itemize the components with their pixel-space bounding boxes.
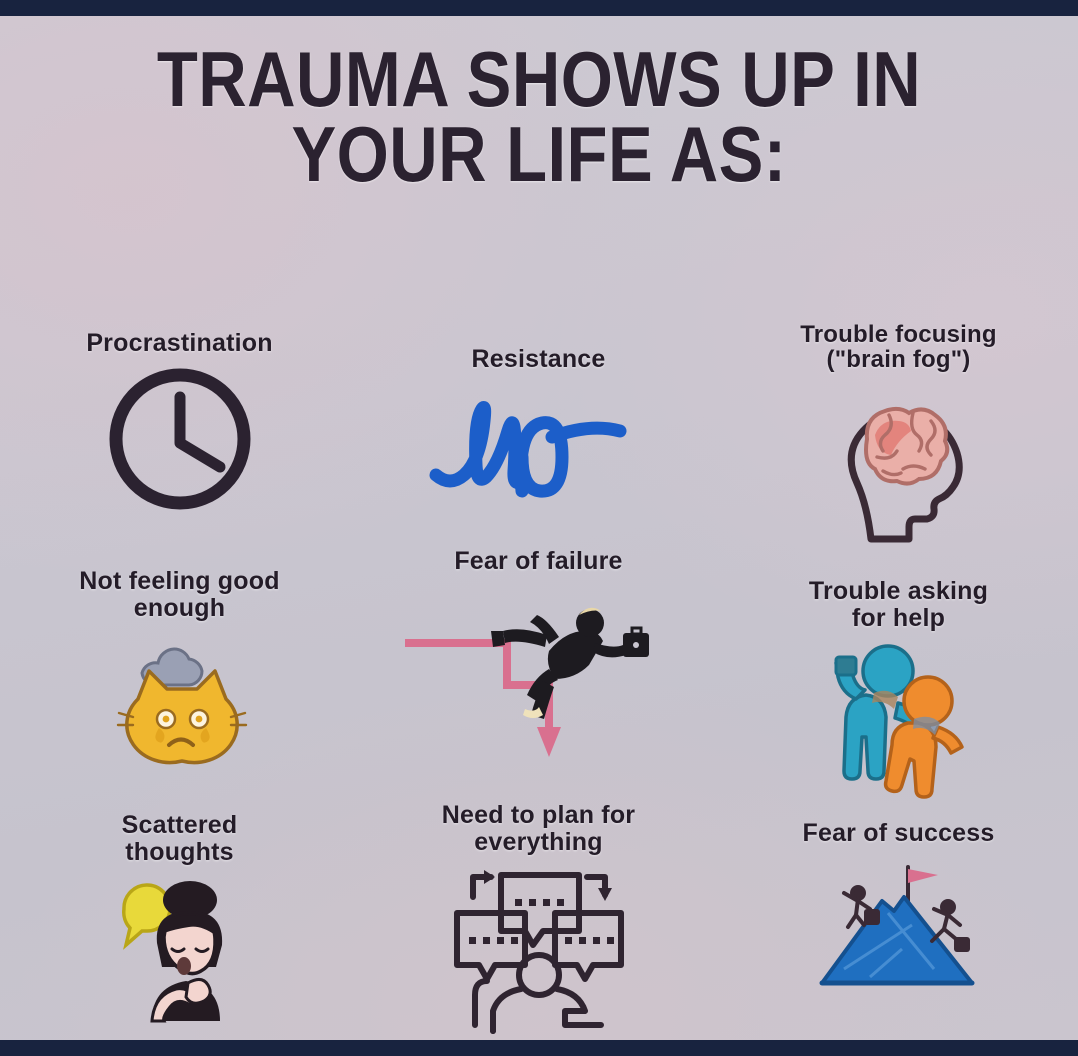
item-label: Trouble asking for help: [719, 578, 1078, 631]
mountain-climbers-flag-icon: [719, 853, 1078, 1003]
item-not-feeling-good-enough: Not feeling good enough: [0, 568, 359, 777]
sad-cat-rain-cloud-icon: [0, 627, 359, 777]
item-label: Not feeling good enough: [0, 568, 359, 621]
column-middle: Resistance Fear of failure: [359, 330, 718, 1030]
item-label: Fear of success: [719, 820, 1078, 847]
item-procrastination: Procrastination: [0, 330, 359, 515]
title-line-2: YOUR LIFE AS:: [75, 117, 1002, 192]
column-right: Trouble focusing ("brain fog"): [719, 330, 1078, 1030]
two-people-helping-icon: [719, 637, 1078, 797]
item-label: Procrastination: [0, 330, 359, 357]
item-resistance: Resistance: [359, 346, 718, 499]
page-title: TRAUMA SHOWS UP IN YOUR LIFE AS:: [0, 42, 1078, 192]
item-label: Trouble focusing ("brain fog"): [719, 322, 1078, 373]
person-thinking-lightbulb-icon: [0, 871, 359, 1021]
column-left: Procrastination Not feeling good enough: [0, 330, 359, 1030]
infographic-poster: TRAUMA SHOWS UP IN YOUR LIFE AS: Procras…: [0, 0, 1078, 1056]
handwritten-no-icon: [359, 379, 718, 499]
item-need-to-plan-for-everything: Need to plan for everything: [359, 802, 718, 1021]
falling-businessman-stairs-icon: [359, 581, 718, 761]
item-label: Scattered thoughts: [0, 812, 359, 865]
item-fear-of-failure: Fear of failure: [359, 548, 718, 761]
item-label: Fear of failure: [359, 548, 718, 575]
item-trouble-focusing: Trouble focusing ("brain fog"): [719, 322, 1078, 549]
item-scattered-thoughts: Scattered thoughts: [0, 812, 359, 1021]
item-label: Resistance: [359, 346, 718, 373]
clock-icon: [0, 363, 359, 515]
item-trouble-asking-for-help: Trouble asking for help: [719, 578, 1078, 797]
speech-bubbles-person-icon: [359, 861, 718, 1021]
item-label: Need to plan for everything: [359, 802, 718, 855]
top-bar: [0, 0, 1078, 16]
title-line-1: TRAUMA SHOWS UP IN: [75, 42, 1002, 117]
item-fear-of-success: Fear of success: [719, 820, 1078, 1003]
bottom-bar: [0, 1040, 1078, 1056]
head-brain-icon: [719, 379, 1078, 549]
